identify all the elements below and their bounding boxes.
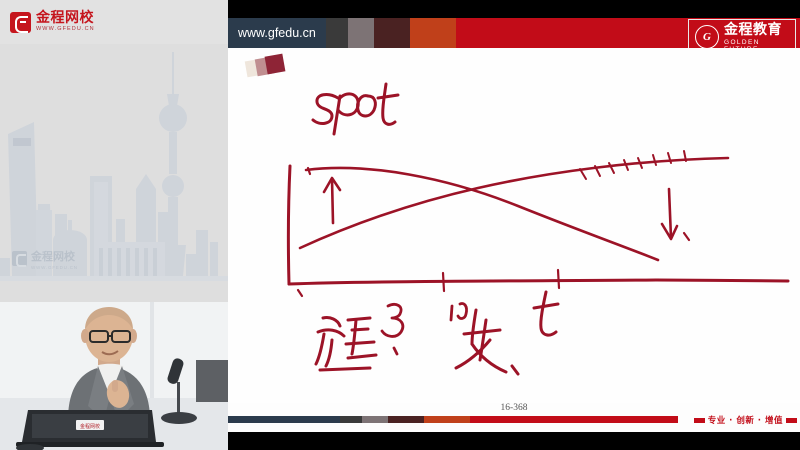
footer-color-block-6 [470,416,678,423]
handwritten-graph-ink [228,48,800,403]
color-block-4 [410,18,456,48]
watermark-text-group: 金程网校 WWW.GFEDU.CN [31,247,78,270]
footer-color-block-4 [388,416,424,423]
footer-color-block-3 [362,416,388,423]
gfedu-watermark-logo: 金程网校 WWW.GFEDU.CN [12,247,78,270]
color-block-3 [374,18,410,48]
gfedu-flag-logo-icon [10,12,31,33]
gfedu-brand-header: 金程网校 WWW.GFEDU.CN [0,0,228,44]
slide-page-number: 16-368 [228,403,800,413]
instructor-video-panel: 金程网校 WWW.GFEDU.CN [0,0,228,450]
watermark-name-cn: 金程网校 [31,250,75,263]
tagline-dash-right [786,418,797,423]
brand-url: WWW.GFEDU.CN [36,27,95,33]
whiteboard-drawing-area[interactable] [228,48,800,403]
instructor-video-feed: 金程网校 [0,302,228,450]
watermark-url: WWW.GFEDU.CN [31,265,78,270]
golden-future-name-cn: 金程教育 [724,22,782,38]
slide-tagline: 专业 · 创新 · 增值 [708,414,783,426]
gfedu-watermark-flag-icon [12,251,27,266]
golden-future-seal-icon: G [695,25,719,49]
presentation-slide-panel: www.gfedu.cn G 金程教育 GOLDEN FUTURE [228,0,800,450]
footer-color-block-5 [424,416,470,423]
instructor-photo-svg: 金程网校 [0,302,228,450]
slide-content: www.gfedu.cn G 金程教育 GOLDEN FUTURE [228,18,800,432]
color-block-2 [348,18,374,48]
slide-footer: 16-368 专业 · 创新 · 增值 [228,403,800,432]
brand-text-group: 金程网校 WWW.GFEDU.CN [36,11,95,33]
brand-name-cn: 金程网校 [36,11,95,25]
svg-text:金程网校: 金程网校 [80,423,100,430]
color-block-1 [326,18,348,48]
slide-tagline-group: 专业 · 创新 · 增值 [694,414,797,426]
slide-url-label: www.gfedu.cn [228,18,326,48]
tagline-dash-left [694,418,705,423]
footer-color-block-1 [228,416,340,423]
footer-color-block-2 [340,416,362,423]
